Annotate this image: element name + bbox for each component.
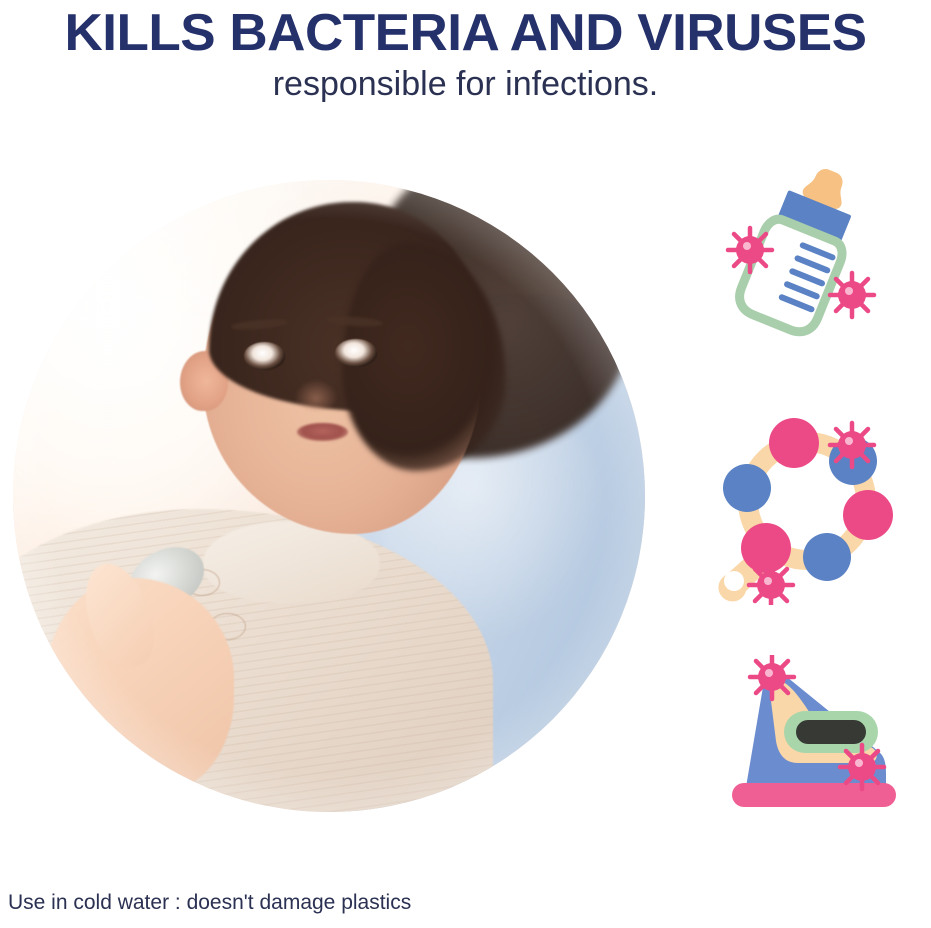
rattle-bead: [843, 490, 893, 540]
icon-column: [660, 150, 931, 830]
baby-bottle-icon: [702, 158, 902, 353]
ride-on-toy-icon: [702, 655, 902, 815]
footer-note: Use in cold water : doesn't damage plast…: [8, 890, 411, 916]
page-title: KILLS BACTERIA AND VIRUSES: [0, 4, 931, 62]
header: KILLS BACTERIA AND VIRUSES responsible f…: [0, 0, 931, 120]
germ-particle: [840, 745, 884, 789]
rattle-bead: [803, 533, 851, 581]
toy-base-shape: [732, 783, 896, 807]
germ-particle: [830, 423, 874, 467]
rattle-bead: [741, 523, 791, 573]
toy-cushion-inner: [796, 720, 866, 744]
hero-photo: [13, 180, 645, 812]
germ-particle: [750, 655, 794, 699]
germ-particle: [749, 563, 793, 605]
rattle-bead: [723, 464, 771, 512]
rattle-bead: [769, 418, 819, 468]
baby-rattle-icon: [690, 405, 905, 605]
hero-photo-image: [13, 180, 645, 812]
rattle-handle-hole: [724, 571, 744, 591]
photo-vignette: [13, 180, 645, 812]
germ-particle: [728, 228, 772, 272]
germ-particle: [830, 273, 874, 317]
page-subtitle: responsible for infections.: [0, 63, 931, 105]
